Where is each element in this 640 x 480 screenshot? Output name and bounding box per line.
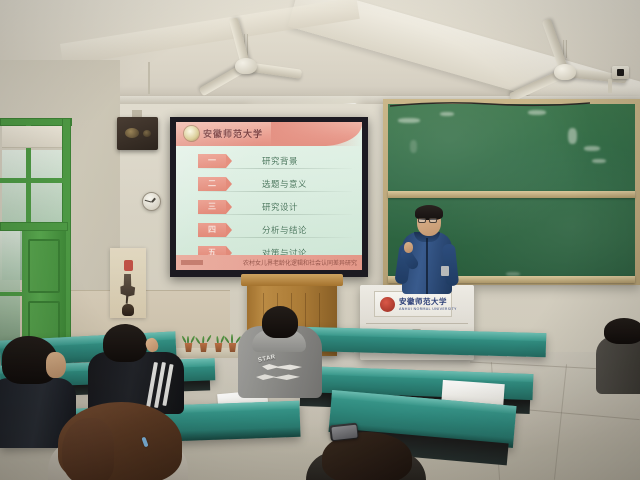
agenda-number: 一 <box>208 157 216 165</box>
window-mullion-h <box>0 178 64 183</box>
agenda-number: 二 <box>208 180 216 188</box>
student-head <box>103 324 147 362</box>
slide-footer-accent <box>181 260 203 265</box>
chalk-smudge <box>584 146 600 151</box>
poster-seal-icon <box>124 260 133 271</box>
agenda-number-tag: 一 <box>198 154 226 168</box>
slide-footer: 农村女儿界老龄化逻辑和社会认同差异研究 <box>176 255 362 270</box>
agenda-item: 二 选题与意义 <box>176 172 362 195</box>
slide-logo-text: 安徽师范大学 <box>203 127 263 140</box>
glasses-icon <box>429 218 437 223</box>
smartphone[interactable] <box>329 423 359 442</box>
student-torso <box>596 336 640 394</box>
poster-calligraphy-glyph <box>119 274 136 304</box>
projected-slide: 安徽师范大学 一 研究背景 二 选题与意义 三 研究设计 四 分析 <box>176 122 362 270</box>
window-view-lower <box>0 231 20 351</box>
emblem-title: 安徽师范大学 <box>399 296 447 307</box>
phone-screen[interactable] <box>331 424 357 440</box>
glasses-icon <box>418 218 426 223</box>
presenter-hand <box>404 242 413 253</box>
fan-hub <box>554 64 576 80</box>
plant-pot <box>214 343 223 352</box>
classroom-scene: 安徽师范大学 一 研究背景 二 选题与意义 三 研究设计 四 分析 <box>0 0 640 480</box>
chalk-smudge <box>410 140 417 153</box>
agenda-label: 研究背景 <box>262 155 298 167</box>
cable-svg <box>390 101 590 109</box>
plant-pot <box>228 343 237 352</box>
agenda-number-tag: 二 <box>198 177 226 191</box>
camera-bracket <box>608 79 612 93</box>
student-head <box>604 318 640 344</box>
chalkboard-rail-middle <box>388 191 635 198</box>
chalk-smudge <box>592 159 606 163</box>
plant-leaves <box>213 330 224 344</box>
door-panel-upper <box>28 239 60 293</box>
wall-clock <box>142 192 161 211</box>
agenda-label: 选题与意义 <box>262 178 307 190</box>
emblem-subtitle: ANHUI NORMAL UNIVERSITY <box>399 307 457 311</box>
university-emblem-plate: 安徽师范大学 ANHUI NORMAL UNIVERSITY <box>374 291 452 317</box>
speaker-cone-icon <box>125 128 139 138</box>
agenda-item: 一 研究背景 <box>176 149 362 172</box>
agenda-item: 四 分析与结论 <box>176 218 362 241</box>
agenda-label: 分析与结论 <box>262 224 307 236</box>
potted-plant <box>184 330 196 352</box>
plant-leaves <box>227 328 238 344</box>
wall-speaker <box>117 117 158 150</box>
plant-pot <box>199 343 208 352</box>
plant-leaves <box>198 330 209 344</box>
slide-header: 安徽师范大学 <box>176 122 362 146</box>
agenda-number-tag: 四 <box>198 223 226 237</box>
window-mullion-lower <box>0 292 22 296</box>
ceiling-fan-left <box>196 34 296 80</box>
plant-pot <box>184 343 193 352</box>
agenda-number-tag: 三 <box>198 200 226 214</box>
window-blind <box>2 126 62 148</box>
chalk-smudge <box>398 118 420 123</box>
light-hanger <box>148 62 150 94</box>
university-seal-icon <box>184 126 199 141</box>
projection-screen: 安徽师范大学 一 研究背景 二 选题与意义 三 研究设计 四 分析 <box>170 117 368 277</box>
agenda-label: 研究设计 <box>262 201 298 213</box>
chalk-smudge <box>440 112 454 116</box>
slide-header-gradient <box>271 122 362 146</box>
presenter-zipper <box>426 238 428 294</box>
chalkboard-cable <box>390 96 590 104</box>
chalk-smudge <box>568 128 577 144</box>
desk-seam <box>366 323 468 324</box>
chalk-smudge <box>528 110 546 115</box>
lectern-top <box>241 274 343 286</box>
clock-hour-hand <box>151 198 155 203</box>
student-head <box>262 306 298 338</box>
potted-plant <box>199 332 211 352</box>
camera-lens-icon <box>617 69 624 76</box>
agenda-item: 三 研究设计 <box>176 195 362 218</box>
speaker-tweeter-icon <box>143 130 151 137</box>
fan-hub <box>235 58 257 74</box>
agenda-number: 三 <box>208 203 216 211</box>
agenda-number: 四 <box>208 226 216 234</box>
plant-leaves <box>183 330 194 344</box>
window-transom <box>0 222 68 231</box>
student-face <box>46 352 66 378</box>
student-hair-strand <box>62 418 114 480</box>
calligraphy-poster <box>110 248 146 318</box>
poster-vase-icon <box>122 304 134 316</box>
slide-footer-text: 农村女儿界老龄化逻辑和社会认同差异研究 <box>243 258 357 267</box>
slide-agenda-list: 一 研究背景 二 选题与意义 三 研究设计 四 分析与结论 五 对策与讨论 <box>176 149 362 264</box>
presenter-sleeve-badge <box>441 266 449 276</box>
red-seal-icon <box>380 297 395 312</box>
